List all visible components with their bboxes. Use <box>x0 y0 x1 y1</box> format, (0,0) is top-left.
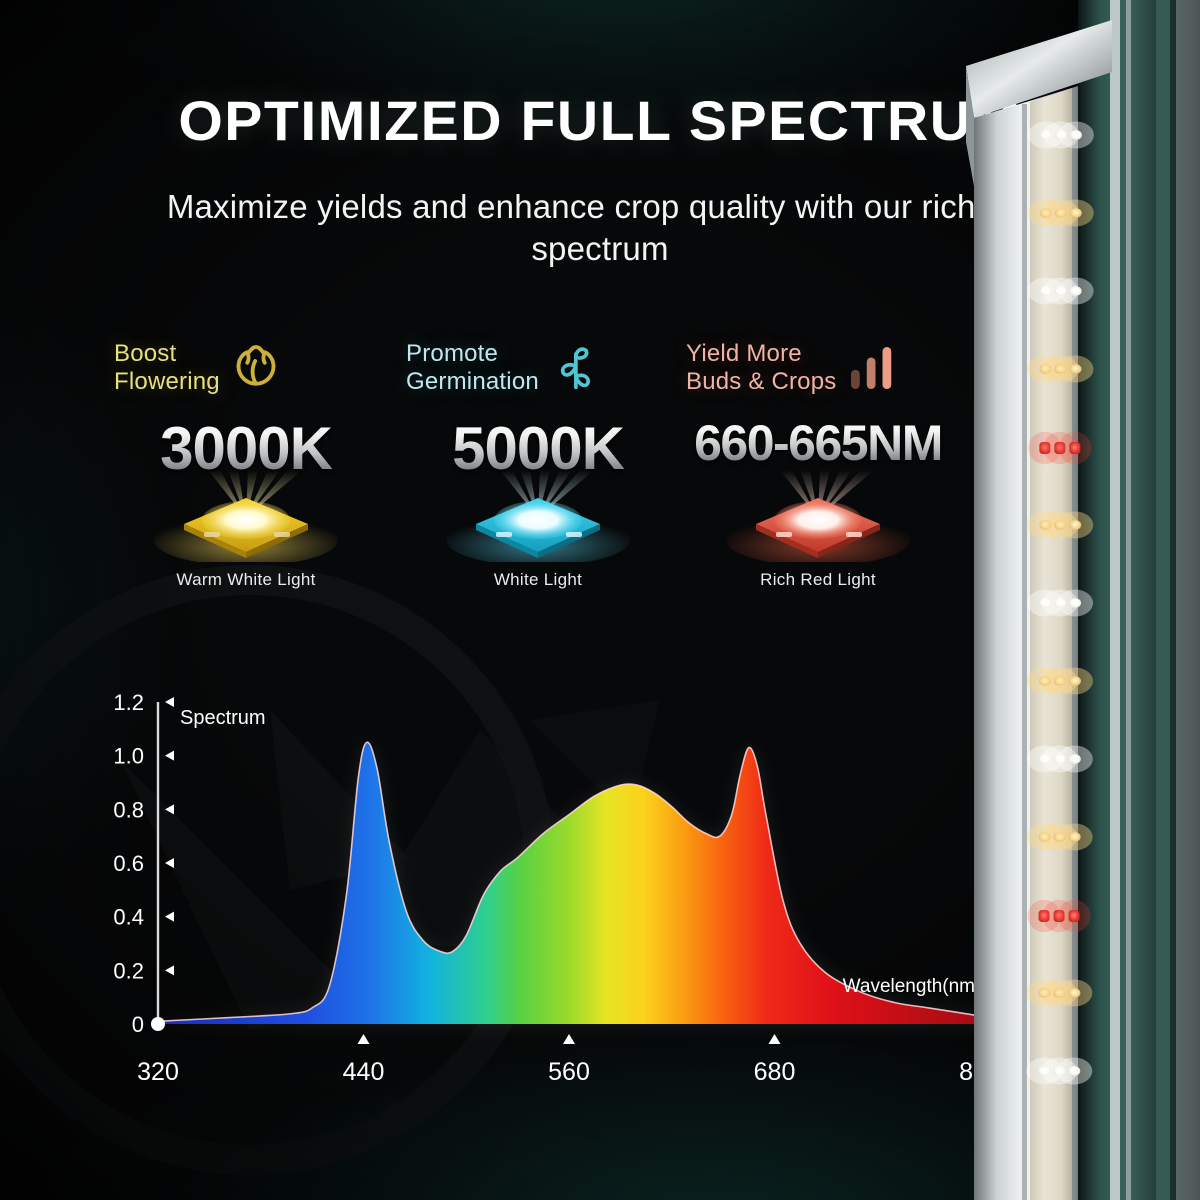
feature-card-3000k: Boost Flowering 3000K <box>96 330 396 600</box>
page-subtitle: Maximize yields and enhance crop quality… <box>150 186 1050 270</box>
led-diode-warm-white <box>1070 364 1082 374</box>
led-diode-white <box>1070 130 1082 140</box>
x-axis-labels: 320440560680800 <box>137 1058 996 1086</box>
feature-title: Promote Germination <box>406 340 539 397</box>
y-axis-ticks <box>165 697 174 975</box>
y-tick-label: 0.8 <box>113 797 144 822</box>
feature-card-660-665nm: Yield More Buds & Crops 660-665NM <box>668 330 968 600</box>
feature-header: Boost Flowering <box>114 340 284 397</box>
axis-origin-dot <box>151 1017 165 1031</box>
feature-columns: Boost Flowering 3000K <box>96 330 976 600</box>
feature-header: Promote Germination <box>406 340 603 397</box>
y-tick-label: 1.0 <box>113 744 144 769</box>
feature-title: Yield More Buds & Crops <box>686 340 836 397</box>
x-axis-ticks <box>358 1034 987 1044</box>
y-tick-label: 1.2 <box>113 690 144 715</box>
sprout-seedling-icon <box>547 340 603 396</box>
led-chip-red <box>668 470 968 562</box>
x-tick-label: 440 <box>343 1058 385 1086</box>
marketing-banner: OPTIMIZED FULL SPECTRUM Maximize yields … <box>0 0 1200 1200</box>
x-tick-label: 680 <box>754 1058 796 1086</box>
flower-tulip-icon <box>228 340 284 396</box>
feature-header: Yield More Buds & Crops <box>686 340 900 397</box>
led-chip-warm-white <box>96 470 396 562</box>
y-tick-label: 0.6 <box>113 851 144 876</box>
x-tick-marker <box>358 1034 370 1044</box>
y-tick-marker <box>165 965 174 975</box>
led-diode-white <box>1069 754 1081 764</box>
led-diode-warm-white <box>1068 988 1080 998</box>
spectrum-chart: 00.20.40.60.81.01.2 320440560680800 Spec… <box>96 672 996 1092</box>
y-axis-labels: 00.20.40.60.81.01.2 <box>113 690 144 1037</box>
x-tick-label: 320 <box>137 1058 179 1086</box>
y-tick-marker <box>165 858 174 868</box>
feature-title: Boost Flowering <box>114 340 220 397</box>
feature-caption: Rich Red Light <box>668 570 968 590</box>
bar-chart-growth-icon <box>844 340 900 396</box>
y-tick-marker <box>165 804 174 814</box>
led-diode-white <box>1069 598 1081 608</box>
led-diode-warm-white <box>1069 832 1081 842</box>
led-grow-light-bar <box>960 0 1200 1200</box>
led-diode-red <box>1069 910 1080 922</box>
feature-caption: Warm White Light <box>96 570 396 590</box>
led-diode-warm-white <box>1069 676 1081 686</box>
y-tick-label: 0.2 <box>113 958 144 983</box>
led-diode-warm-white <box>1070 208 1082 218</box>
x-tick-marker <box>563 1034 575 1044</box>
y-tick-marker <box>165 697 174 707</box>
y-tick-label: 0.4 <box>113 905 144 930</box>
y-tick-marker <box>165 912 174 922</box>
x-tick-label: 560 <box>548 1058 590 1086</box>
feature-value: 660-665NM <box>668 414 968 472</box>
x-tick-marker <box>769 1034 781 1044</box>
y-tick-label: 0 <box>132 1012 144 1037</box>
led-diode-red <box>1069 442 1080 454</box>
led-diode-white <box>1070 286 1082 296</box>
led-diode-warm-white <box>1069 520 1081 530</box>
feature-card-5000k: Promote Germination 5000K <box>388 330 688 600</box>
y-tick-marker <box>165 751 174 761</box>
led-chip-white <box>388 470 688 562</box>
led-diode-white <box>1068 1066 1080 1076</box>
feature-caption: White Light <box>388 570 688 590</box>
y-axis-title: Spectrum <box>180 707 266 729</box>
